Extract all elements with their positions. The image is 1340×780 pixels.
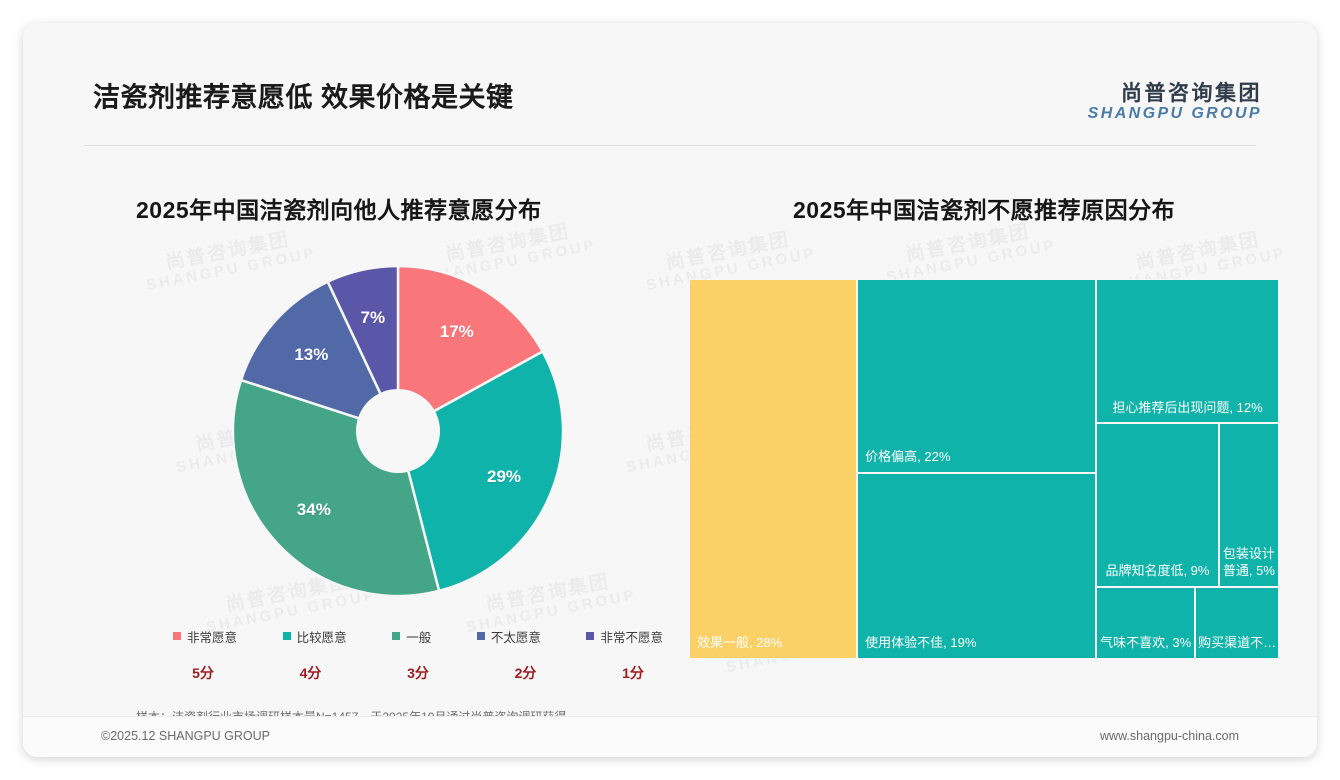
score-row: 5分4分3分2分1分: [173, 663, 663, 685]
donut-legend: 非常愿意比较愿意一般不太愿意非常不愿意: [173, 626, 663, 646]
donut-slice-label: 29%: [487, 467, 521, 487]
treemap-tile-label: 购买渠道不…: [1196, 635, 1278, 652]
treemap-tile-label: 气味不喜欢, 3%: [1097, 635, 1194, 652]
score-label: 1分: [603, 663, 663, 685]
donut-slice-label: 34%: [297, 500, 331, 520]
treemap-tile-label: 使用体验不佳, 19%: [865, 635, 1090, 652]
legend-item[interactable]: 比较愿意: [283, 627, 347, 646]
page-title: 洁瓷剂推荐意愿低 效果价格是关键: [93, 76, 514, 115]
header-divider: [84, 145, 1256, 146]
donut-svg: [233, 266, 563, 596]
brand-logo-en: SHANGPU GROUP: [1088, 105, 1262, 123]
legend-swatch: [392, 632, 400, 640]
legend-swatch: [283, 632, 291, 640]
treemap-tile-label: 品牌知名度低, 9%: [1097, 563, 1218, 580]
donut-slice-label: 17%: [440, 322, 474, 342]
treemap-tile[interactable]: 品牌知名度低, 9%: [1096, 423, 1219, 586]
donut-hole: [356, 389, 440, 473]
donut-chart: 17%29%34%13%7%: [233, 266, 563, 596]
treemap-tile[interactable]: 价格偏高, 22%: [857, 279, 1096, 473]
copyright-text: ©2025.12 SHANGPU GROUP: [101, 729, 270, 743]
donut-slice-label: 13%: [294, 345, 328, 365]
slide-header: 洁瓷剂推荐意愿低 效果价格是关键 尚普咨询集团 SHANGPU GROUP: [23, 23, 1317, 123]
treemap-tile-label: 担心推荐后出现问题, 12%: [1097, 400, 1278, 417]
score-label: 5分: [173, 663, 233, 685]
treemap-tile[interactable]: 担心推荐后出现问题, 12%: [1096, 279, 1279, 423]
treemap-tile[interactable]: 购买渠道不…: [1195, 587, 1279, 659]
treemap-tile-label: 效果一般, 28%: [697, 635, 851, 652]
legend-label: 比较愿意: [297, 627, 347, 646]
website-link[interactable]: www.shangpu-china.com: [1100, 729, 1239, 743]
legend-swatch: [477, 632, 485, 640]
legend-item[interactable]: 非常不愿意: [586, 627, 663, 646]
treemap-tile[interactable]: 气味不喜欢, 3%: [1096, 587, 1195, 659]
legend-label: 非常愿意: [187, 627, 237, 646]
score-label: 4分: [281, 663, 341, 685]
watermark: 尚普咨询集团SHANGPU GROUP: [881, 217, 1058, 287]
treemap-tile[interactable]: 使用体验不佳, 19%: [857, 473, 1096, 659]
legend-swatch: [173, 632, 181, 640]
legend-label: 非常不愿意: [600, 627, 663, 646]
brand-logo-cn: 尚普咨询集团: [1088, 83, 1262, 105]
slide-canvas: 尚普咨询集团SHANGPU GROUP尚普咨询集团SHANGPU GROUP尚普…: [23, 23, 1317, 757]
treemap-tile-label: 包装设计普通, 5%: [1220, 546, 1278, 580]
treemap-tile[interactable]: 效果一般, 28%: [689, 279, 857, 659]
treemap-tile[interactable]: 包装设计普通, 5%: [1219, 423, 1279, 586]
legend-label: 不太愿意: [491, 627, 541, 646]
legend-item[interactable]: 不太愿意: [477, 627, 541, 646]
right-chart-title: 2025年中国洁瓷剂不愿推荐原因分布: [793, 191, 1175, 225]
legend-item[interactable]: 非常愿意: [173, 627, 237, 646]
score-label: 3分: [388, 663, 448, 685]
treemap-tile-label: 价格偏高, 22%: [865, 449, 1090, 466]
legend-item[interactable]: 一般: [392, 627, 431, 646]
treemap-chart: 效果一般, 28%价格偏高, 22%使用体验不佳, 19%担心推荐后出现问题, …: [689, 279, 1279, 659]
legend-swatch: [586, 632, 594, 640]
brand-logo: 尚普咨询集团 SHANGPU GROUP: [1088, 83, 1262, 123]
bottom-bar: ©2025.12 SHANGPU GROUP www.shangpu-china…: [23, 716, 1317, 757]
left-chart-title: 2025年中国洁瓷剂向他人推荐意愿分布: [136, 191, 542, 225]
legend-label: 一般: [406, 627, 431, 646]
score-label: 2分: [496, 663, 556, 685]
donut-slice-label: 7%: [361, 308, 386, 328]
